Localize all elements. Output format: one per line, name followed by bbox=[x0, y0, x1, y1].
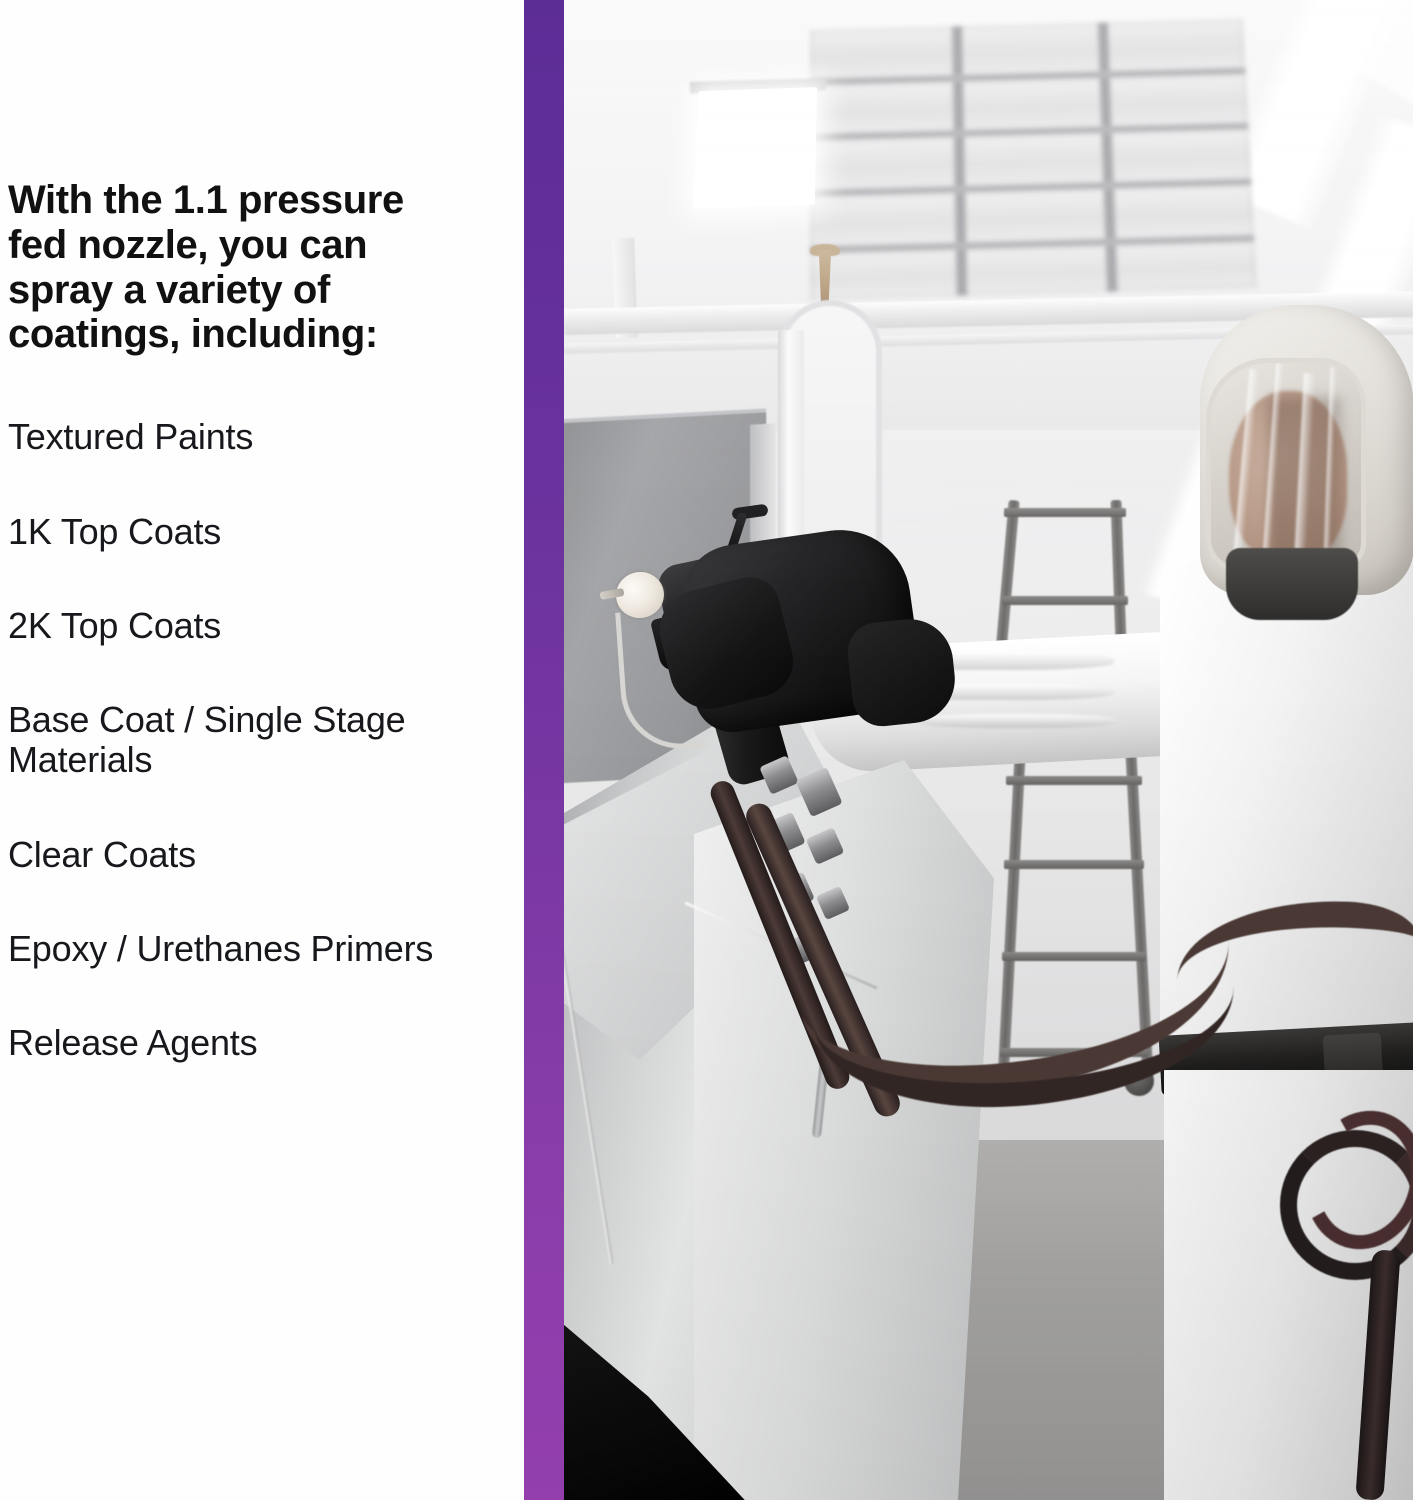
list-item: Release Agents bbox=[8, 1023, 458, 1063]
text-panel: With the 1.1 pressure fed nozzle, you ca… bbox=[0, 0, 524, 1500]
respirator-visor bbox=[1206, 358, 1366, 572]
list-item: Clear Coats bbox=[8, 835, 458, 875]
list-item: 2K Top Coats bbox=[8, 606, 458, 646]
list-item: 1K Top Coats bbox=[8, 512, 458, 552]
list-item: Base Coat / Single Stage Materials bbox=[8, 700, 458, 781]
purple-divider-bar bbox=[524, 0, 564, 1500]
list-item: Epoxy / Urethanes Primers bbox=[8, 929, 458, 969]
spray-booth-photo bbox=[564, 0, 1413, 1500]
coatings-list: Textured Paints 1K Top Coats 2K Top Coat… bbox=[8, 417, 464, 1064]
respirator-neck-seal bbox=[1226, 548, 1358, 620]
promo-panel: With the 1.1 pressure fed nozzle, you ca… bbox=[0, 0, 1413, 1500]
list-item: Textured Paints bbox=[8, 417, 458, 457]
headline: With the 1.1 pressure fed nozzle, you ca… bbox=[8, 178, 464, 357]
